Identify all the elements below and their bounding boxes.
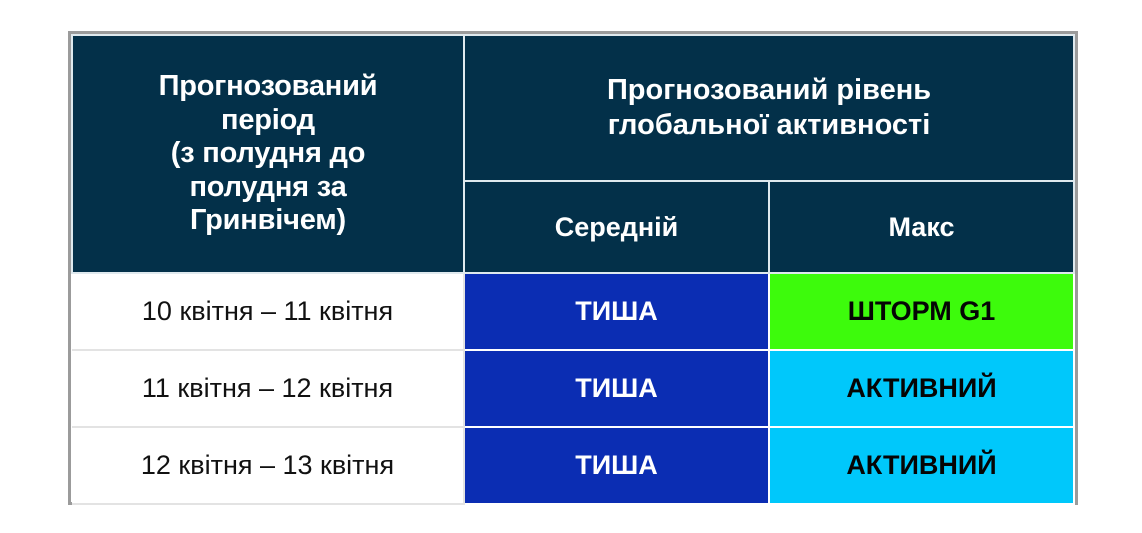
header-period-line-1: Прогнозований [73,70,463,104]
header-period-line-2: період [73,104,463,138]
forecast-table-container: Прогнозований період (з полудня до полуд… [68,31,1078,505]
cell-period: 11 квітня – 12 квітня [72,350,464,427]
table-row: 12 квітня – 13 квітня ТИША АКТИВНИЙ [72,427,1074,504]
cell-period: 10 квітня – 11 квітня [72,273,464,350]
table-header-row-primary: Прогнозований період (з полудня до полуд… [72,35,1074,181]
cell-period: 12 квітня – 13 квітня [72,427,464,504]
header-mean: Середній [464,181,769,273]
table-row: 10 квітня – 11 квітня ТИША ШТОРМ G1 [72,273,1074,350]
header-forecast-period: Прогнозований період (з полудня до полуд… [72,35,464,273]
geomagnetic-forecast-table: Прогнозований період (з полудня до полуд… [71,34,1075,505]
cell-mean-level: ТИША [464,350,769,427]
header-period-line-5: Гринвічем) [73,204,463,238]
header-period-line-4: полудня за [73,171,463,205]
cell-max-level: ШТОРМ G1 [769,273,1074,350]
cell-max-level: АКТИВНИЙ [769,427,1074,504]
header-global-line-2: глобальної активності [465,108,1073,143]
cell-mean-level: ТИША [464,427,769,504]
cell-max-level: АКТИВНИЙ [769,350,1074,427]
cell-mean-level: ТИША [464,273,769,350]
header-global-line-1: Прогнозований рівень [465,73,1073,108]
header-max: Макс [769,181,1074,273]
header-global-activity-level: Прогнозований рівень глобальної активнос… [464,35,1074,181]
header-period-line-3: (з полудня до [73,137,463,171]
table-row: 11 квітня – 12 квітня ТИША АКТИВНИЙ [72,350,1074,427]
